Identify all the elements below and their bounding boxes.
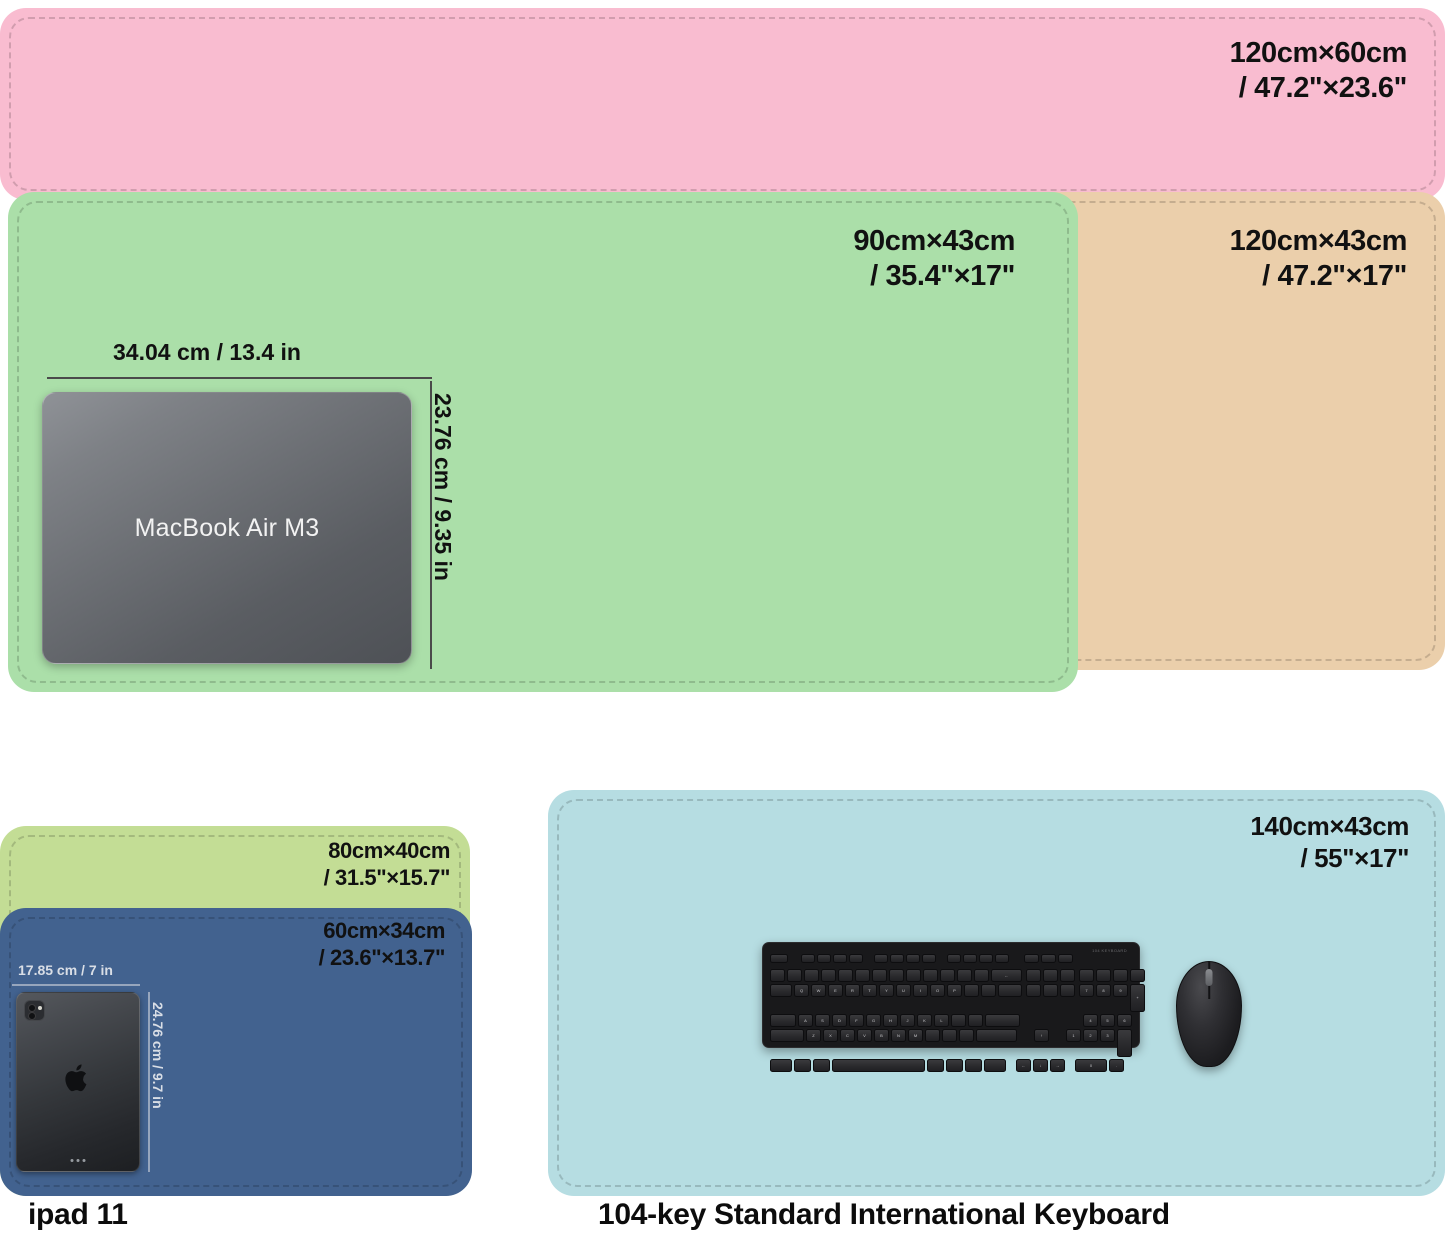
- keyboard-row-function: [770, 954, 1132, 963]
- key-ctrl-right: [984, 1059, 1006, 1072]
- key: [979, 954, 993, 963]
- key: [1096, 969, 1111, 982]
- key: [1130, 969, 1145, 982]
- key: J: [900, 1014, 915, 1027]
- key-num0: 0: [1075, 1059, 1107, 1072]
- key: [855, 969, 870, 982]
- key: I: [913, 984, 928, 997]
- key: [1041, 954, 1056, 963]
- key-backspace: ←: [991, 969, 1022, 982]
- key-enter: [998, 984, 1022, 997]
- key: 1: [1066, 1029, 1081, 1042]
- apple-logo-icon: [64, 1062, 92, 1094]
- size-label-120x60: 120cm×60cm / 47.2"×23.6": [1230, 36, 1407, 107]
- ipad-width-rule: [12, 984, 140, 986]
- key: M: [908, 1029, 923, 1042]
- key: F: [849, 1014, 864, 1027]
- key-win-left: [794, 1059, 811, 1072]
- ipad-height-label: 24.76 cm / 9.7 in: [150, 1002, 166, 1109]
- key: Q: [794, 984, 809, 997]
- key: [804, 969, 819, 982]
- key: 2: [1083, 1029, 1098, 1042]
- key: [1026, 969, 1041, 982]
- infographic-canvas: 120cm×60cm / 47.2"×23.6" 120cm×43cm / 47…: [0, 0, 1445, 1238]
- key: 6: [1117, 1014, 1132, 1027]
- key: Z: [806, 1029, 821, 1042]
- key: [833, 954, 847, 963]
- key: [959, 1029, 974, 1042]
- key: [1079, 969, 1094, 982]
- macbook-label: MacBook Air M3: [135, 514, 320, 543]
- key: V: [857, 1029, 872, 1042]
- macbook-width-rule: [47, 377, 432, 379]
- key: R: [845, 984, 860, 997]
- key-arrow-up: ↑: [1034, 1029, 1049, 1042]
- key: [942, 1029, 957, 1042]
- key: L: [934, 1014, 949, 1027]
- key: A: [798, 1014, 813, 1027]
- ipad-width-label: 17.85 cm / 7 in: [18, 962, 113, 978]
- key: [922, 954, 936, 963]
- key: 3: [1100, 1029, 1115, 1042]
- macbook-height-label: 23.76 cm / 9.35 in: [429, 393, 456, 581]
- size-label-120x43: 120cm×43cm / 47.2"×17": [1230, 224, 1407, 295]
- mouse-scroll-wheel: [1206, 969, 1213, 986]
- keyboard-brand-text: 104 KEYBOARD: [1092, 948, 1127, 953]
- ipad-11-device: [16, 992, 140, 1172]
- key-numdot: .: [1109, 1059, 1124, 1072]
- key: [947, 954, 961, 963]
- key-alt-left: [813, 1059, 830, 1072]
- keyboard-row-space: ← ↓ → 0 .: [770, 1059, 1132, 1072]
- key: X: [823, 1029, 838, 1042]
- keyboard-row-home: A S D F G H J K L 4 5 6: [770, 1014, 1132, 1027]
- caption-ipad-11: ipad 11: [28, 1198, 128, 1232]
- size-label-90x43: 90cm×43cm / 35.4"×17": [690, 224, 1015, 295]
- key: [1043, 969, 1058, 982]
- size-label-140x43: 140cm×43cm / 55"×17": [1250, 811, 1409, 874]
- key: C: [840, 1029, 855, 1042]
- caption-keyboard: 104-key Standard International Keyboard: [598, 1198, 1170, 1232]
- key-ctrl-left: [770, 1059, 792, 1072]
- key: [770, 954, 788, 963]
- ipad-camera-module: [24, 1000, 45, 1021]
- size-label-80x40: 80cm×40cm / 31.5"×15.7": [250, 838, 450, 892]
- key: [838, 969, 853, 982]
- key: [1058, 954, 1073, 963]
- key: 4: [1083, 1014, 1098, 1027]
- key: [951, 1014, 966, 1027]
- key: [974, 969, 989, 982]
- key-space: [832, 1059, 925, 1072]
- key: K: [917, 1014, 932, 1027]
- key-numenter: [1117, 1029, 1132, 1057]
- key: [1043, 984, 1058, 997]
- keyboard-row-shift: Z X C V B N M ↑ 1 2 3: [770, 1029, 1132, 1057]
- key-numplus: +: [1130, 984, 1145, 1012]
- key: [1026, 984, 1041, 997]
- key: T: [862, 984, 877, 997]
- key-alt-right: [927, 1059, 944, 1072]
- key: H: [883, 1014, 898, 1027]
- macbook-air-m3: MacBook Air M3: [42, 392, 412, 664]
- key: P: [947, 984, 962, 997]
- key-return: [985, 1014, 1020, 1027]
- keyboard-row-number: ←: [770, 969, 1132, 982]
- key: [1113, 969, 1128, 982]
- key: G: [866, 1014, 881, 1027]
- key: N: [891, 1029, 906, 1042]
- key: [995, 954, 1009, 963]
- key: [1060, 969, 1075, 982]
- key: Y: [879, 984, 894, 997]
- key: 7: [1079, 984, 1094, 997]
- mat-120x60-pink: [0, 8, 1445, 200]
- key-menu: [965, 1059, 982, 1072]
- keyboard-row-qwerty: Q W E R T Y U I O P 7 8 9 +: [770, 984, 1132, 1012]
- key: B: [874, 1029, 889, 1042]
- key: [849, 954, 863, 963]
- key: E: [828, 984, 843, 997]
- key: [906, 969, 921, 982]
- key-fn: [946, 1059, 963, 1072]
- key-arrow-right: →: [1050, 1059, 1065, 1072]
- key: [968, 1014, 983, 1027]
- key: [940, 969, 955, 982]
- key: U: [896, 984, 911, 997]
- key-tab: [770, 984, 792, 997]
- key: 5: [1100, 1014, 1115, 1027]
- key: [906, 954, 920, 963]
- key: [872, 969, 887, 982]
- key: [889, 969, 904, 982]
- size-label-60x34: 60cm×34cm / 23.6"×13.7": [230, 918, 445, 972]
- key: 9: [1113, 984, 1128, 997]
- key: [874, 954, 888, 963]
- key: [817, 954, 831, 963]
- key: [925, 1029, 940, 1042]
- key: D: [832, 1014, 847, 1027]
- key-arrow-left: ←: [1016, 1059, 1031, 1072]
- key: O: [930, 984, 945, 997]
- key-shift-left: [770, 1029, 804, 1042]
- key: [981, 984, 996, 997]
- key: [890, 954, 904, 963]
- key: [957, 969, 972, 982]
- key: [964, 984, 979, 997]
- key: W: [811, 984, 826, 997]
- key: 8: [1096, 984, 1111, 997]
- key: [963, 954, 977, 963]
- key: S: [815, 1014, 830, 1027]
- key: [1024, 954, 1039, 963]
- key: [821, 969, 836, 982]
- smart-connector-dots: [71, 1159, 86, 1162]
- key-capslock: [770, 1014, 796, 1027]
- keyboard-104key: 104 KEYBOARD: [762, 942, 1140, 1048]
- key-arrow-down: ↓: [1033, 1059, 1048, 1072]
- key: [770, 969, 785, 982]
- key: [923, 969, 938, 982]
- key: [787, 969, 802, 982]
- macbook-width-label: 34.04 cm / 13.4 in: [113, 339, 301, 366]
- key: [1060, 984, 1075, 997]
- key: [801, 954, 815, 963]
- key-shift-right: [976, 1029, 1017, 1042]
